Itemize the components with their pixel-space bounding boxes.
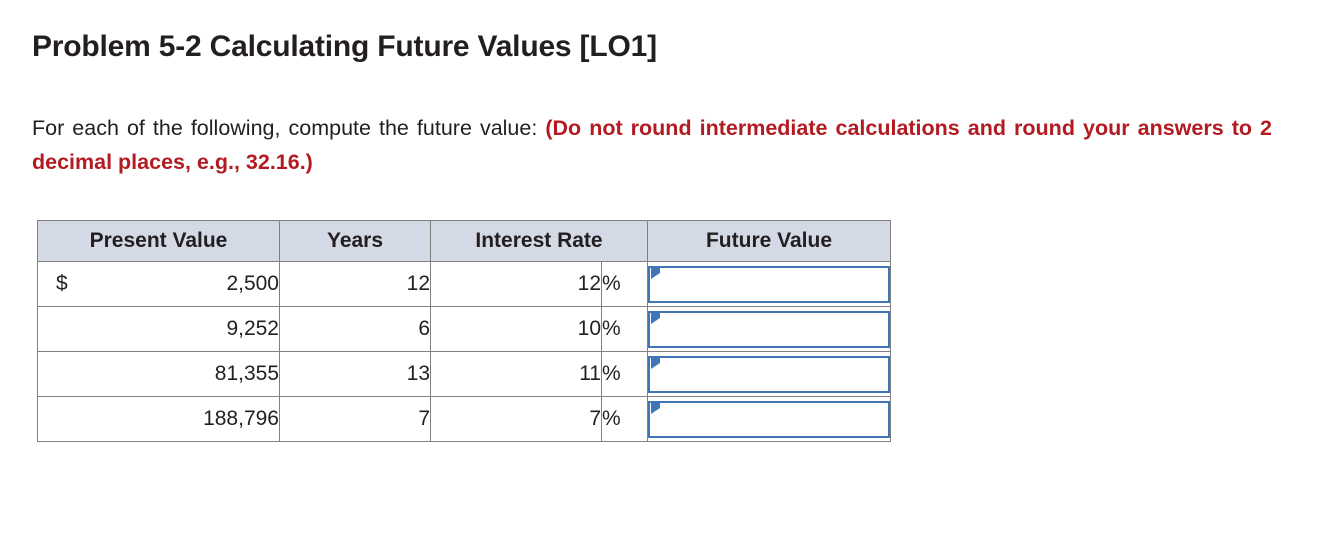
percent-symbol: % [602,262,648,307]
percent-symbol: % [602,352,648,397]
future-value-input-wrapper [648,401,890,438]
cell-present-value: $ 2,500 [38,262,280,307]
instructions-plain-text: For each of the following, compute the f… [32,116,545,140]
column-header-years: Years [280,221,431,262]
page-title: Problem 5-2 Calculating Future Values [L… [32,0,1304,65]
percent-symbol: % [602,397,648,442]
cell-future-value [648,307,891,352]
cell-years: 7 [280,397,431,442]
cell-future-value [648,397,891,442]
future-value-input[interactable] [648,311,890,348]
cell-present-value: 9,252 [38,307,280,352]
cell-present-value: 81,355 [38,352,280,397]
cell-interest-rate: 12 [431,262,602,307]
future-value-table-container: Present Value Years Interest Rate Future… [32,180,1304,442]
cell-years: 12 [280,262,431,307]
present-value-amount: 188,796 [203,407,279,430]
table-row: 9,252 6 10 % [38,307,891,352]
currency-symbol: $ [56,272,68,296]
problem-page: Problem 5-2 Calculating Future Values [L… [0,0,1336,544]
future-value-input-wrapper [648,266,890,303]
future-value-input-wrapper [648,356,890,393]
cell-future-value [648,262,891,307]
future-value-input[interactable] [648,266,890,303]
table-row: $ 2,500 12 12 % [38,262,891,307]
table-row: 81,355 13 11 % [38,352,891,397]
table-header: Present Value Years Interest Rate Future… [38,221,891,262]
cell-future-value [648,352,891,397]
instructions-paragraph: For each of the following, compute the f… [32,65,1272,181]
future-value-input[interactable] [648,356,890,393]
present-value-amount: 2,500 [226,272,279,295]
cell-present-value: 188,796 [38,397,280,442]
column-header-present-value: Present Value [38,221,280,262]
table-header-row: Present Value Years Interest Rate Future… [38,221,891,262]
table-row: 188,796 7 7 % [38,397,891,442]
percent-symbol: % [602,307,648,352]
table-body: $ 2,500 12 12 % [38,262,891,442]
column-header-future-value: Future Value [648,221,891,262]
future-value-input[interactable] [648,401,890,438]
column-header-interest-rate: Interest Rate [431,221,648,262]
future-value-table: Present Value Years Interest Rate Future… [37,220,891,442]
cell-interest-rate: 11 [431,352,602,397]
cell-interest-rate: 10 [431,307,602,352]
cell-years: 6 [280,307,431,352]
present-value-amount: 9,252 [226,317,279,340]
cell-years: 13 [280,352,431,397]
future-value-input-wrapper [648,311,890,348]
present-value-amount: 81,355 [215,362,279,385]
cell-interest-rate: 7 [431,397,602,442]
